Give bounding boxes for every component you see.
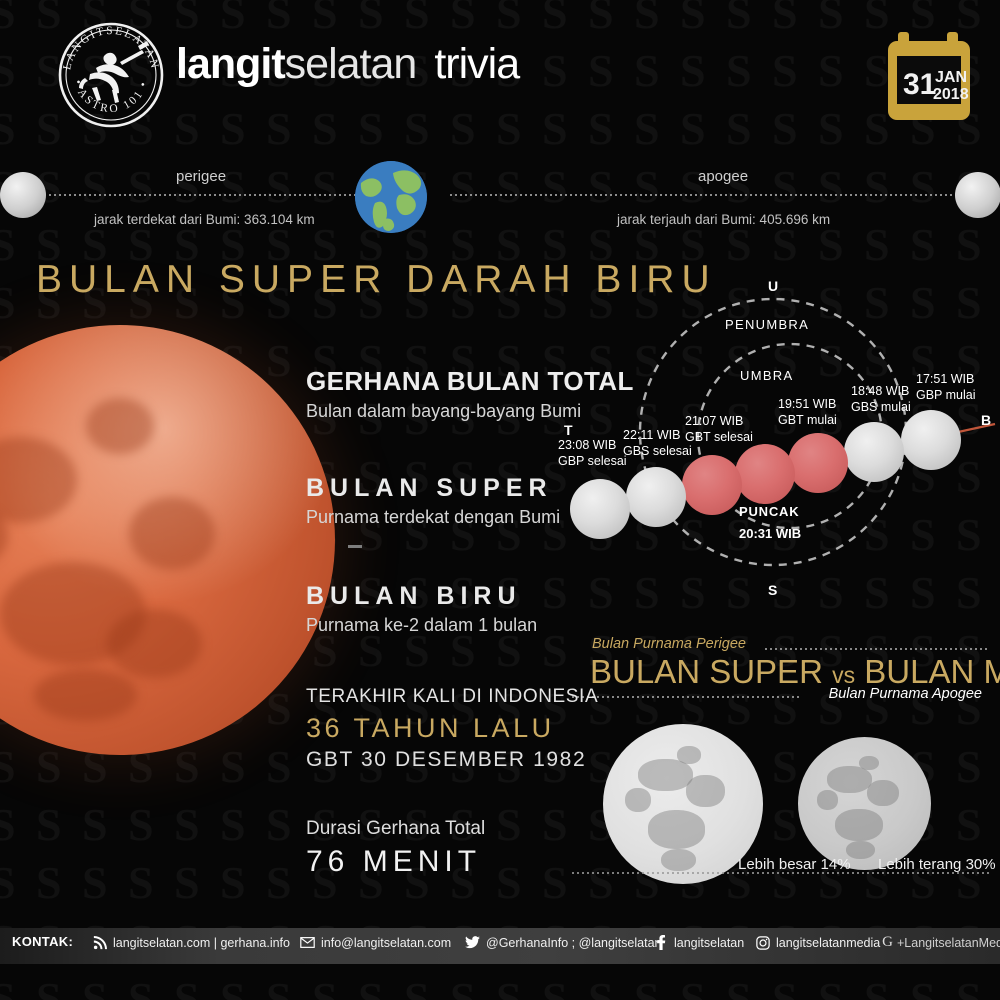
brand-wordmark: langitselatantrivia — [176, 40, 519, 89]
logo-seal[interactable]: LANGITSELATAN • ASTRO 101 • — [52, 16, 170, 134]
stage-time: 23:08 WIB — [558, 438, 627, 454]
eclipse-moon-0 — [570, 479, 630, 539]
compass-north: U — [768, 278, 778, 294]
terakhir-line-1: TERAKHIR KALI DI INDONESIA — [306, 686, 598, 708]
title-super: BULAN SUPER — [590, 653, 823, 690]
footer-item-label: langitselatan — [674, 936, 744, 950]
fact-block-terakhir-kali: TERAKHIR KALI DI INDONESIA 36 TAHUN LALU… — [306, 686, 598, 772]
stage-event: GBS mulai — [851, 400, 911, 416]
eclipse-stage-label-1: 22:11 WIB GBS selesai — [623, 428, 692, 459]
stage-time: 19:51 WIB — [778, 397, 837, 413]
instagram-icon — [755, 935, 770, 950]
fact-heading: BULAN BIRU — [306, 582, 537, 611]
twitter-icon — [465, 935, 480, 950]
footer-item-googleplus[interactable]: G +LangitselatanMedia — [880, 935, 1000, 950]
stage-time: 21:07 WIB — [685, 414, 753, 430]
fact-block-durasi: Durasi Gerhana Total 76 MENIT — [306, 818, 485, 879]
eclipse-stage-label-3: 19:51 WIB GBT mulai — [778, 397, 837, 428]
fact-subtitle: Bulan dalam bayang-bayang Bumi — [306, 401, 634, 422]
brand-part-selatan: selatan — [285, 40, 417, 88]
googleplus-icon: G — [880, 935, 895, 950]
eclipse-stage-label-4: 18:48 WIB GBS mulai — [851, 384, 911, 415]
stage-event: GBT mulai — [778, 413, 837, 429]
eclipse-moon-2 — [682, 455, 742, 515]
compass-south: S — [768, 582, 777, 598]
apogee-distance: jarak terjauh dari Bumi: 405.696 km — [617, 212, 830, 227]
penumbra-label: PENUMBRA — [725, 317, 809, 332]
email-icon — [300, 935, 315, 950]
durasi-label: Durasi Gerhana Total — [306, 818, 485, 840]
eclipse-stage-label-5: 17:51 WIB GBP mulai — [916, 372, 976, 403]
fact-block-gerhana-bulan-total: GERHANA BULAN TOTAL Bulan dalam bayang-b… — [306, 366, 634, 422]
calendar-year: 2018 — [933, 86, 969, 103]
stage-time: 18:48 WIB — [851, 384, 911, 400]
divider-dash — [348, 545, 362, 548]
calendar-month: JAN — [935, 69, 967, 86]
orbit-distance-band: perigee jarak terdekat dari Bumi: 363.10… — [0, 150, 1000, 250]
footer-item-instagram[interactable]: langitselatanmedia — [755, 935, 880, 950]
footer-item-label: info@langitselatan.com — [321, 936, 451, 950]
fact-subtitle: Purnama terdekat dengan Bumi — [306, 507, 560, 528]
top-dotted-connector — [765, 648, 990, 650]
perigee-dotted-line — [44, 194, 380, 196]
apogee-moon-icon — [955, 172, 1000, 218]
micromoon-disc — [798, 737, 931, 870]
title-vs: vs — [832, 662, 855, 688]
calendar-icon: 31 JAN 2018 — [886, 30, 972, 122]
footer-item-label: langitselatan.com | gerhana.info — [113, 936, 290, 950]
eclipse-stage-label-2: 21:07 WIB GBT selesai — [685, 414, 753, 445]
stage-event: GBS selesai — [623, 444, 692, 460]
eclipse-path-diagram: U S T B PENUMBRA UMBRA 23:08 WIB GBP sel… — [540, 272, 1000, 612]
eclipse-moon-6 — [901, 410, 961, 470]
brand-part-trivia: trivia — [434, 40, 519, 88]
terakhir-line-3: GBT 30 DESEMBER 1982 — [306, 748, 598, 772]
brand-part-langit: langit — [176, 40, 285, 88]
fact-heading: GERHANA BULAN TOTAL — [306, 366, 634, 397]
stage-event: GBP mulai — [916, 388, 976, 404]
footer-item-label: @GerhanaInfo ; @langitselatan — [486, 936, 661, 950]
eclipse-moon-1 — [626, 467, 686, 527]
blood-moon-illustration — [0, 325, 335, 755]
footer-item-label: +LangitselatanMedia — [897, 936, 1000, 950]
perigee-fullmoon-label: Bulan Purnama Perigee — [592, 636, 746, 652]
apogee-fullmoon-label: Bulan Purnama Apogee — [829, 686, 982, 702]
eclipse-stage-label-0: 23:08 WIB GBP selesai — [558, 438, 627, 469]
compass-west: T — [564, 422, 573, 438]
stage-time: 17:51 WIB — [916, 372, 976, 388]
fact-block-bulan-super: BULAN SUPER Purnama terdekat dengan Bumi — [306, 474, 560, 528]
rss-icon — [92, 935, 107, 950]
durasi-value: 76 MENIT — [306, 845, 485, 879]
footer-item-facebook[interactable]: langitselatan — [653, 935, 744, 950]
calendar-day: 31 — [903, 68, 936, 101]
fact-subtitle: Purnama ke-2 dalam 1 bulan — [306, 615, 537, 636]
apogee-dotted-line — [450, 194, 970, 196]
footer-item-twitter[interactable]: @GerhanaInfo ; @langitselatan — [465, 935, 661, 950]
stage-event: GBP selesai — [558, 454, 627, 470]
eclipse-moon-3 — [735, 444, 795, 504]
stage-event: GBT selesai — [685, 430, 753, 446]
super-vs-mini-comparison: Bulan Purnama Perigee BULAN SUPER vs BUL… — [560, 634, 1000, 904]
perigee-label: perigee — [176, 168, 226, 185]
earth-icon — [355, 161, 427, 233]
facebook-icon — [653, 935, 668, 950]
header: LANGITSELATAN • ASTRO 101 • langitselata… — [0, 0, 1000, 148]
fact-heading: BULAN SUPER — [306, 474, 560, 503]
compass-east: B — [981, 412, 991, 428]
peak-label: PUNCAK — [739, 504, 799, 519]
footer-item-label: langitselatanmedia — [776, 936, 880, 950]
peak-time: 20:31 WIB — [739, 526, 801, 541]
perigee-distance: jarak terdekat dari Bumi: 363.104 km — [94, 212, 315, 227]
perigee-moon-icon — [0, 172, 46, 218]
fact-block-bulan-biru: BULAN BIRU Purnama ke-2 dalam 1 bulan — [306, 582, 537, 636]
stage-time: 22:11 WIB — [623, 428, 692, 444]
umbra-label: UMBRA — [740, 368, 793, 383]
caption-lebih-besar: Lebih besar 14% — [738, 856, 851, 873]
title-mini: BULAN MINI — [864, 653, 1000, 690]
eclipse-moon-4 — [788, 433, 848, 493]
terakhir-line-2: 36 TAHUN LALU — [306, 713, 598, 744]
apogee-label: apogee — [698, 168, 748, 185]
bottom-dotted-connector — [572, 696, 802, 698]
footer-item-website[interactable]: langitselatan.com | gerhana.info — [92, 935, 290, 950]
caption-lebih-terang: Lebih terang 30% — [878, 856, 996, 873]
eclipse-moon-5 — [844, 422, 904, 482]
footer-item-email[interactable]: info@langitselatan.com — [300, 935, 451, 950]
kontak-label: KONTAK: — [12, 934, 73, 949]
